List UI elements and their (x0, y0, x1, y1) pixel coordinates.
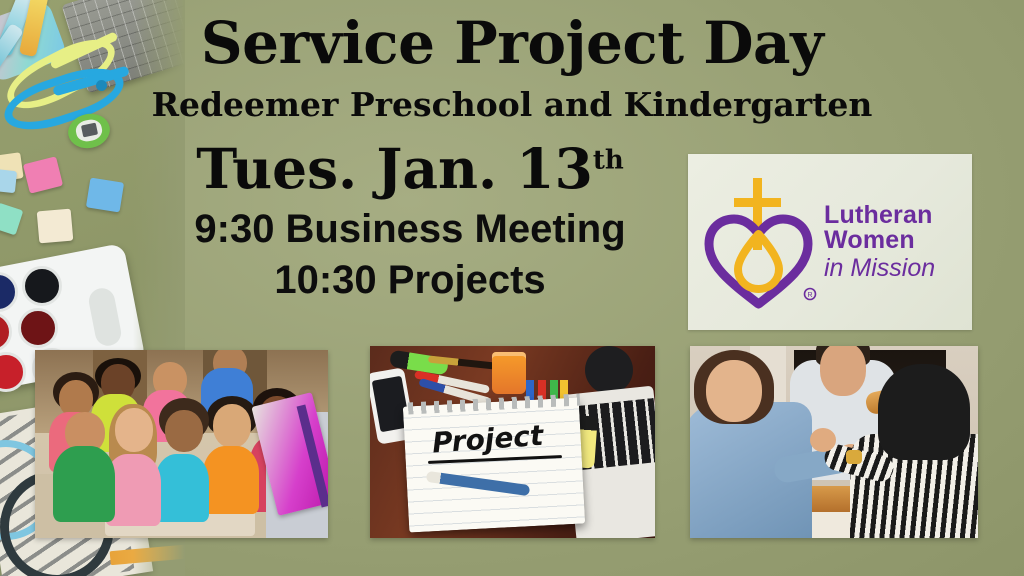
eraser-decor (0, 203, 23, 236)
registered-mark-icon: R (805, 289, 816, 300)
eraser-decor (37, 209, 74, 244)
child-head (213, 404, 251, 448)
eraser-decor (23, 156, 63, 193)
lwml-word-lutheran: Lutheran (824, 203, 935, 229)
child-body (203, 446, 259, 514)
lwml-emblem-svg: R (700, 172, 818, 312)
eraser-decor (86, 178, 124, 213)
child-head (115, 408, 153, 452)
photo-volunteers-serving-food (690, 346, 978, 538)
child-head (165, 410, 203, 452)
page-subtitle: Redeemer Preschool and Kindergarten (0, 88, 1024, 121)
man-head (820, 346, 866, 396)
page-title: Service Project Day (0, 14, 1024, 72)
event-date-text: Tues. Jan. 13 (196, 136, 593, 201)
child-body (155, 454, 209, 522)
paint-pot-decor (18, 308, 58, 348)
photo-children-circle (35, 350, 328, 538)
schedule-item-business-meeting: 9:30 Business Meeting (150, 204, 670, 255)
event-date: Tues. Jan. 13th (150, 140, 670, 198)
lwml-logo-card: R Lutheran Women in Mission (688, 154, 972, 330)
event-details: Tues. Jan. 13th 9:30 Business Meeting 10… (150, 140, 670, 306)
event-date-ordinal: th (593, 146, 624, 176)
headscarf (878, 364, 970, 460)
desk-lamp-base (585, 346, 633, 394)
lwml-logo-mark: R (700, 172, 818, 312)
eraser-decor (0, 169, 17, 193)
paint-pot-decor (22, 266, 62, 306)
svg-text:R: R (807, 292, 812, 299)
juice-glass (492, 352, 526, 394)
flyer-canvas: Service Project Day Redeemer Preschool a… (0, 0, 1024, 576)
lwml-word-women: Women (824, 228, 935, 254)
schedule-item-projects: 10:30 Projects (150, 255, 670, 306)
lwml-word-in-mission: in Mission (824, 256, 935, 282)
photo-project-notepad: Project (370, 346, 655, 538)
woman-head (706, 360, 762, 422)
wristwatch (846, 450, 862, 464)
lwml-logo-wordmark: Lutheran Women in Mission (824, 203, 935, 282)
child-body (53, 446, 115, 522)
striped-person-hand (810, 428, 836, 452)
